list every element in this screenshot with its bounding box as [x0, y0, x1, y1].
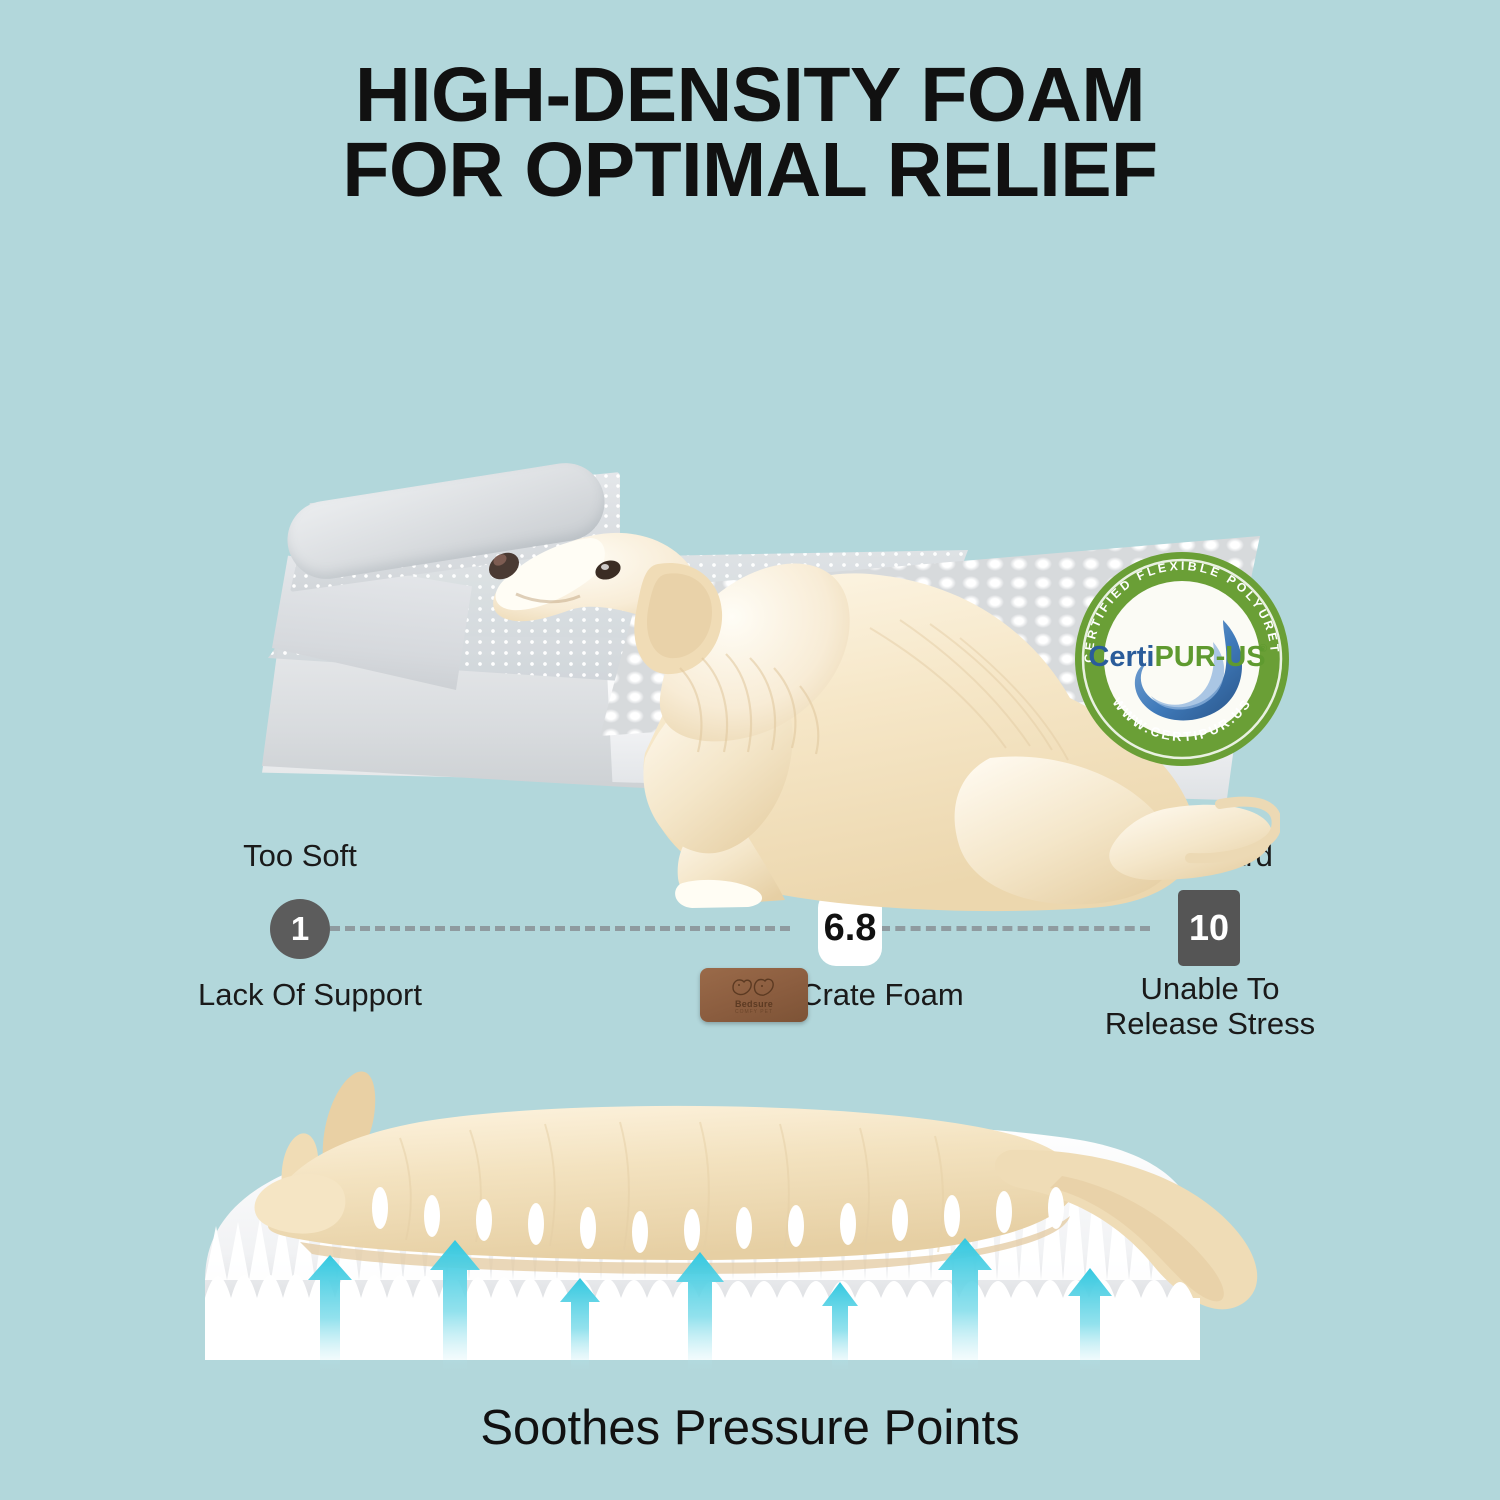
scale-left-top-label: Too Soft — [170, 840, 430, 873]
page-title: HIGH-DENSITY FOAM FOR OPTIMAL RELIEF — [0, 58, 1500, 209]
brand-tag-name: Bedsure — [735, 1000, 773, 1009]
scale-marker-1: 1 — [270, 899, 330, 959]
headline-line-2: FOR OPTIMAL RELIEF — [0, 133, 1500, 208]
dog-cat-logo-icon — [728, 975, 780, 999]
scale-left-bottom-label: Lack Of Support — [170, 978, 450, 1013]
badge-center-text: CertiPUR-US — [1088, 641, 1265, 673]
product-hero-photo: Bedsure COMFY PET CONTAINS CERTIFIED FLE… — [0, 250, 1500, 820]
brand-tag-subtitle: COMFY PET — [735, 1010, 773, 1015]
badge-registered-mark: ® — [1259, 643, 1267, 655]
brand-leather-tag: Bedsure COMFY PET — [700, 968, 808, 1022]
bottom-caption: Soothes Pressure Points — [0, 1400, 1500, 1456]
headline-line-1: HIGH-DENSITY FOAM — [0, 58, 1500, 133]
scale-right-bottom-line-1: Unable To — [1090, 972, 1330, 1007]
certipur-us-badge: CONTAINS CERTIFIED FLEXIBLE POLYURETHANE… — [1073, 550, 1291, 768]
pressure-relief-illustration — [0, 1030, 1500, 1370]
